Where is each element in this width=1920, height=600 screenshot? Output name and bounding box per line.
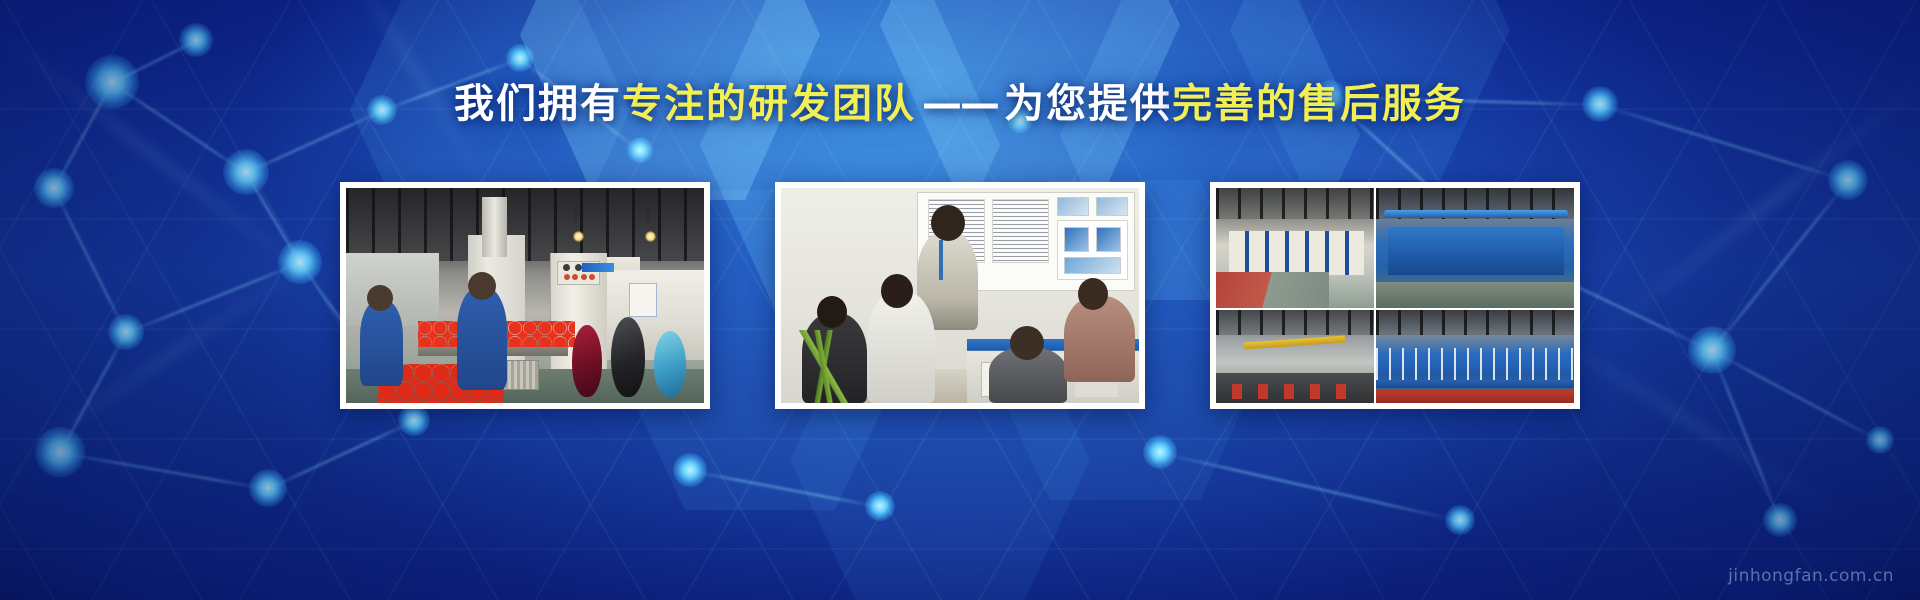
photo-gallery: 工厂喷涂生产线，两名身穿蓝色工服的工人在流水线旁作业，传送带上摆满红色工件 <box>0 182 1920 409</box>
collage-quadrant-hanger-line <box>1376 310 1574 403</box>
photo-card-production-line[interactable]: 工厂喷涂生产线，两名身穿蓝色工服的工人在流水线旁作业，传送带上摆满红色工件 <box>340 182 710 409</box>
network-link <box>268 420 415 490</box>
photo-card-equipment-collage[interactable]: 车间设备四宫格拼图：烘道、蓝色输送管线、挂具链条与涂装流水线 <box>1210 182 1580 409</box>
headline-dash: —— <box>916 81 1004 127</box>
collage-quadrant-blue-tunnel <box>1376 188 1574 308</box>
network-link <box>690 470 880 508</box>
network-node-glow <box>1143 435 1177 469</box>
network-node-glow <box>1763 503 1797 537</box>
collage-quadrant-conveyor <box>1216 310 1374 403</box>
photo-1-image <box>346 188 704 403</box>
network-node-glow <box>865 491 895 521</box>
network-node-glow <box>506 44 534 72</box>
network-node-glow <box>673 453 707 487</box>
network-node-glow <box>627 137 653 163</box>
network-link <box>112 40 197 84</box>
network-node-glow <box>35 427 85 477</box>
headline-highlight-2: 完善的售后服务 <box>1172 81 1466 127</box>
network-link <box>60 452 268 490</box>
photo-card-team-meeting[interactable]: 研发团队会议，多名工程师围桌讨论，墙上张贴技术图纸与方案海报 <box>775 182 1145 409</box>
network-link <box>1160 452 1460 522</box>
network-node-glow <box>1445 505 1475 535</box>
network-node-glow <box>179 23 213 57</box>
photo-3-image <box>1216 188 1574 403</box>
headline-segment-2: 为您提供 <box>1004 81 1172 127</box>
site-watermark: jinhongfan.com.cn <box>1728 566 1894 586</box>
photo-2-image <box>781 188 1139 403</box>
headline-highlight-1: 专注的研发团队 <box>622 81 916 127</box>
promo-banner: 我们拥有专注的研发团队——为您提供完善的售后服务 <box>0 0 1920 600</box>
page-title: 我们拥有专注的研发团队——为您提供完善的售后服务 <box>0 84 1920 124</box>
headline-segment-1: 我们拥有 <box>454 81 622 127</box>
network-node-glow <box>1866 426 1894 454</box>
collage-quadrant-oven <box>1216 188 1374 308</box>
network-node-glow <box>249 469 287 507</box>
